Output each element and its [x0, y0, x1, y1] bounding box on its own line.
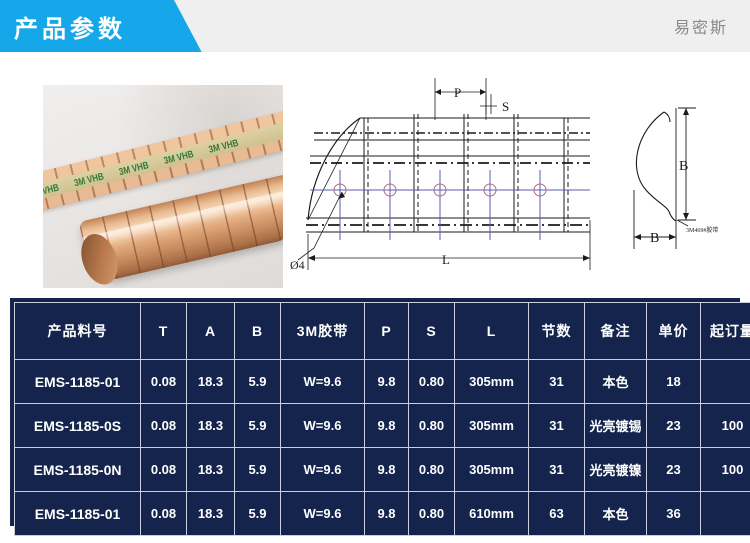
cell-b: 5.9 [235, 492, 281, 536]
col-header-a: A [187, 303, 235, 360]
cell-t: 0.08 [141, 360, 187, 404]
illustration-band: 3M VHB 3M VHB 3M VHB 3M VHB 3M VHB [0, 52, 750, 298]
cell-part-no: EMS-1185-01 [15, 492, 141, 536]
cell-s: 0.80 [409, 448, 455, 492]
cell-l: 305mm [455, 360, 529, 404]
cell-t: 0.08 [141, 404, 187, 448]
col-header-note: 备注 [585, 303, 647, 360]
parameters-table-container: 产品料号 T A B 3M胶带 P S L 节数 备注 单价 起订量 EMS-1… [10, 298, 740, 526]
cell-a: 18.3 [187, 360, 235, 404]
dim-label-b-vertical: B [679, 159, 688, 174]
cell-l: 610mm [455, 492, 529, 536]
dim-label-b-horizontal: B [650, 231, 659, 246]
cross-section-drawing: B B 3M469#胶带 [620, 74, 745, 284]
tape-spec-label: 3M469#胶带 [686, 226, 718, 234]
cell-moq: 100 [701, 404, 750, 448]
col-header-moq: 起订量 [701, 303, 750, 360]
cell-sections: 31 [529, 448, 585, 492]
cell-tape: W=9.6 [281, 448, 365, 492]
cell-part-no: EMS-1185-0N [15, 448, 141, 492]
brand-name: 易密斯 [674, 0, 728, 52]
cell-b: 5.9 [235, 448, 281, 492]
cell-sections: 31 [529, 404, 585, 448]
cell-l: 305mm [455, 448, 529, 492]
cell-sections: 63 [529, 492, 585, 536]
cell-s: 0.80 [409, 404, 455, 448]
col-header-tape: 3M胶带 [281, 303, 365, 360]
col-header-p: P [365, 303, 409, 360]
table-row: EMS-1185-0S 0.08 18.3 5.9 W=9.6 9.8 0.80… [15, 404, 750, 448]
side-view-drawing: P S L Ø4 [290, 70, 610, 285]
dim-label-p: P [454, 85, 461, 100]
cell-tape: W=9.6 [281, 492, 365, 536]
cell-note: 本色 [585, 360, 647, 404]
cell-price: 23 [647, 404, 701, 448]
cell-l: 305mm [455, 404, 529, 448]
page-header: 产品参数 易密斯 [0, 0, 750, 52]
side-view-svg: P S L Ø4 [290, 70, 610, 285]
cell-sections: 31 [529, 360, 585, 404]
cell-p: 9.8 [365, 448, 409, 492]
cell-note: 光亮镀镍 [585, 448, 647, 492]
cell-price: 23 [647, 448, 701, 492]
cell-p: 9.8 [365, 360, 409, 404]
cell-s: 0.80 [409, 360, 455, 404]
tab-skew-decoration [130, 0, 202, 52]
cell-a: 18.3 [187, 492, 235, 536]
col-header-price: 单价 [647, 303, 701, 360]
cell-note: 本色 [585, 492, 647, 536]
col-header-sections: 节数 [529, 303, 585, 360]
cell-part-no: EMS-1185-0S [15, 404, 141, 448]
cell-note: 光亮镀锡 [585, 404, 647, 448]
parameters-table: 产品料号 T A B 3M胶带 P S L 节数 备注 单价 起订量 EMS-1… [14, 302, 750, 536]
section-title-tab: 产品参数 [0, 0, 160, 52]
table-row: EMS-1185-01 0.08 18.3 5.9 W=9.6 9.8 0.80… [15, 360, 750, 404]
dim-label-diameter: Ø4 [290, 258, 305, 272]
cell-moq [701, 360, 750, 404]
cell-price: 36 [647, 492, 701, 536]
cell-moq [701, 492, 750, 536]
dim-label-s: S [502, 99, 509, 114]
col-header-t: T [141, 303, 187, 360]
cell-p: 9.8 [365, 404, 409, 448]
cell-part-no: EMS-1185-01 [15, 360, 141, 404]
page-title: 产品参数 [14, 9, 126, 44]
cell-moq: 100 [701, 448, 750, 492]
col-header-part-no: 产品料号 [15, 303, 141, 360]
cell-tape: W=9.6 [281, 404, 365, 448]
cell-price: 18 [647, 360, 701, 404]
table-row: EMS-1185-01 0.08 18.3 5.9 W=9.6 9.8 0.80… [15, 492, 750, 536]
cell-b: 5.9 [235, 360, 281, 404]
table-header-row: 产品料号 T A B 3M胶带 P S L 节数 备注 单价 起订量 [15, 303, 750, 360]
cell-b: 5.9 [235, 404, 281, 448]
table-row: EMS-1185-0N 0.08 18.3 5.9 W=9.6 9.8 0.80… [15, 448, 750, 492]
cell-s: 0.80 [409, 492, 455, 536]
cell-a: 18.3 [187, 404, 235, 448]
dim-label-l: L [442, 252, 450, 267]
col-header-s: S [409, 303, 455, 360]
cross-section-svg: B B 3M469#胶带 [620, 74, 745, 284]
cell-t: 0.08 [141, 448, 187, 492]
cell-tape: W=9.6 [281, 360, 365, 404]
col-header-b: B [235, 303, 281, 360]
col-header-l: L [455, 303, 529, 360]
cell-t: 0.08 [141, 492, 187, 536]
product-photo: 3M VHB 3M VHB 3M VHB 3M VHB 3M VHB [43, 85, 283, 288]
cell-a: 18.3 [187, 448, 235, 492]
cell-p: 9.8 [365, 492, 409, 536]
